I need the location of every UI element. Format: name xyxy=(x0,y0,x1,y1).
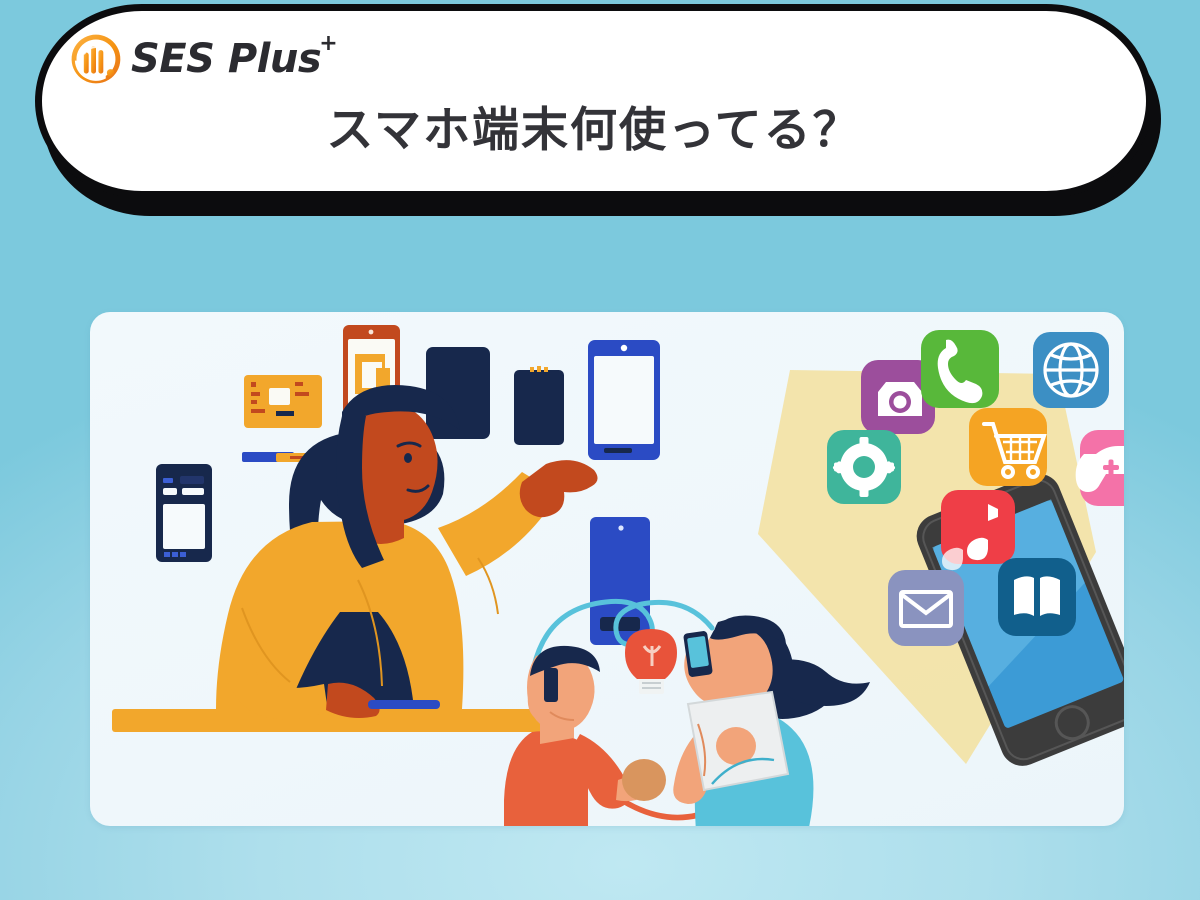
settings-app-icon xyxy=(827,430,901,504)
phone-app-icon xyxy=(921,330,999,408)
music-app-icon xyxy=(941,490,1015,570)
stylus xyxy=(368,700,440,709)
brand-logo[interactable]: SES Plus + xyxy=(70,33,321,85)
ses-plus-circular-bars-logo-icon xyxy=(70,33,122,85)
card-orange-sim-icon xyxy=(244,375,322,428)
two-people-on-phones-illustration xyxy=(504,601,870,826)
lightbulb-icon xyxy=(625,629,677,694)
books-app-icon xyxy=(998,558,1076,636)
device-blue-phone-right-icon xyxy=(590,517,650,645)
globe-app-icon xyxy=(1033,332,1109,408)
header-banner: SES Plus + スマホ端末何使ってる？ xyxy=(35,4,1161,216)
device-navy-atm-icon xyxy=(156,464,212,562)
desk xyxy=(112,709,550,732)
brand-name-text: SES Plus xyxy=(131,36,321,82)
device-blue-phone-held-icon xyxy=(588,340,660,460)
shopping-app-icon xyxy=(969,408,1047,486)
brand-superscript-plus: + xyxy=(319,33,337,55)
device-navy-small-phone-icon xyxy=(514,366,564,445)
eye xyxy=(404,453,412,463)
slide-canvas: SES Plus + スマホ端末何使ってる？ xyxy=(0,0,1200,900)
illustration-card xyxy=(90,312,1124,826)
person-left-phone xyxy=(544,668,558,702)
header-pill: SES Plus + スマホ端末何使ってる？ xyxy=(35,4,1153,198)
games-app-icon xyxy=(1076,430,1124,506)
person-left-ball xyxy=(622,759,666,801)
mail-app-icon xyxy=(888,570,964,646)
page-title: スマホ端末何使ってる？ xyxy=(42,107,1146,154)
hand-pointing xyxy=(520,460,598,517)
brand-wordmark: SES Plus + xyxy=(131,39,321,79)
person-right-figure xyxy=(673,615,870,826)
illustration-svg xyxy=(90,312,1124,826)
